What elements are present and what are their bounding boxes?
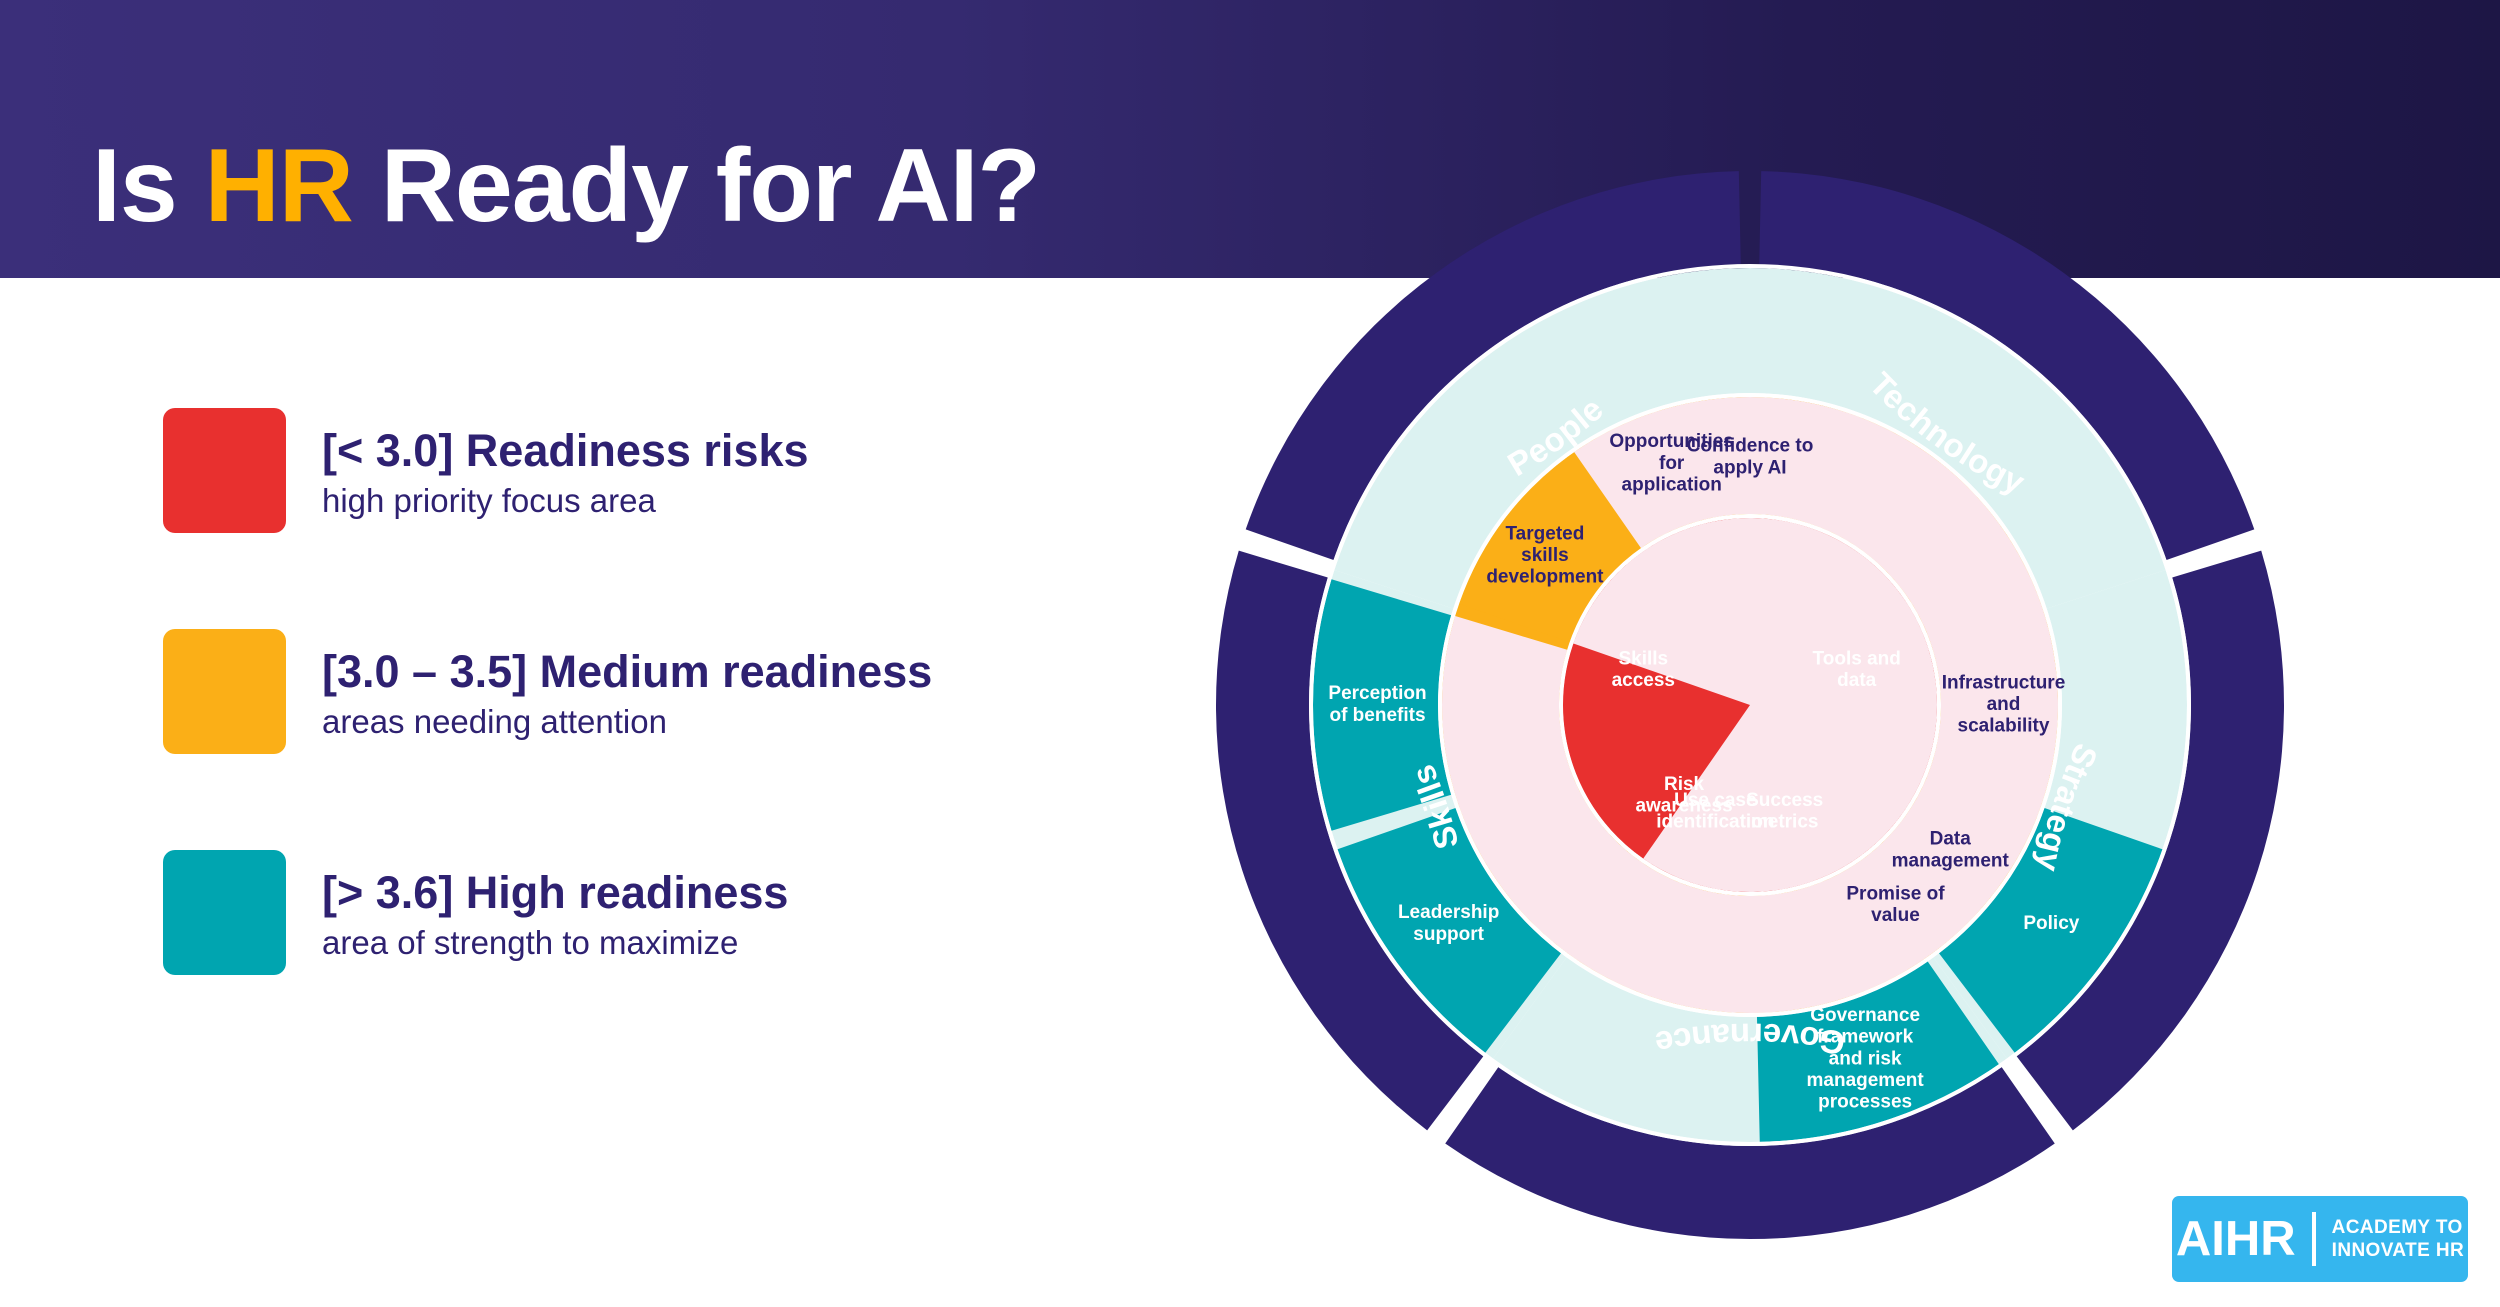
legend-swatch-low — [163, 408, 286, 533]
legend-subtitle-high: area of strength to maximize — [322, 924, 788, 962]
page-title-part1: Is — [92, 128, 205, 244]
aihr-tagline: ACADEMY TO INNOVATE HR — [2332, 1216, 2464, 1262]
legend-title-low: [< 3.0] Readiness risks — [322, 426, 809, 476]
legend-subtitle-medium: areas needing attention — [322, 703, 932, 741]
aihr-tagline-line2: INNOVATE HR — [2332, 1239, 2464, 1262]
aihr-wordmark: AIHR — [2176, 1215, 2296, 1264]
legend-title-medium: [3.0 – 3.5] Medium readiness — [322, 647, 932, 697]
legend-swatch-medium — [163, 629, 286, 754]
legend-item-medium: [3.0 – 3.5] Medium readiness areas needi… — [163, 629, 1123, 754]
aihr-tagline-line1: ACADEMY TO — [2332, 1216, 2464, 1239]
aihr-logo: AIHR ACADEMY TO INNOVATE HR — [2172, 1196, 2468, 1282]
legend-item-low: [< 3.0] Readiness risks high priority fo… — [163, 408, 1123, 533]
legend-subtitle-low: high priority focus area — [322, 482, 809, 520]
legend-item-high: [> 3.6] High readiness area of strength … — [163, 850, 1123, 975]
logo-divider — [2312, 1212, 2316, 1266]
core-ring-group — [1563, 518, 1937, 892]
legend-swatch-high — [163, 850, 286, 975]
page-title-accent: HR — [205, 128, 353, 244]
legend: [< 3.0] Readiness risks high priority fo… — [163, 408, 1123, 1071]
page-title: Is HR Ready for AI? — [92, 132, 1040, 241]
ai-readiness-sunburst-chart: TechnologyPeopleSkillsGovernanceStrategy… — [1150, 105, 2350, 1305]
page-title-part2: Ready for AI? — [353, 128, 1040, 244]
legend-title-high: [> 3.6] High readiness — [322, 868, 788, 918]
